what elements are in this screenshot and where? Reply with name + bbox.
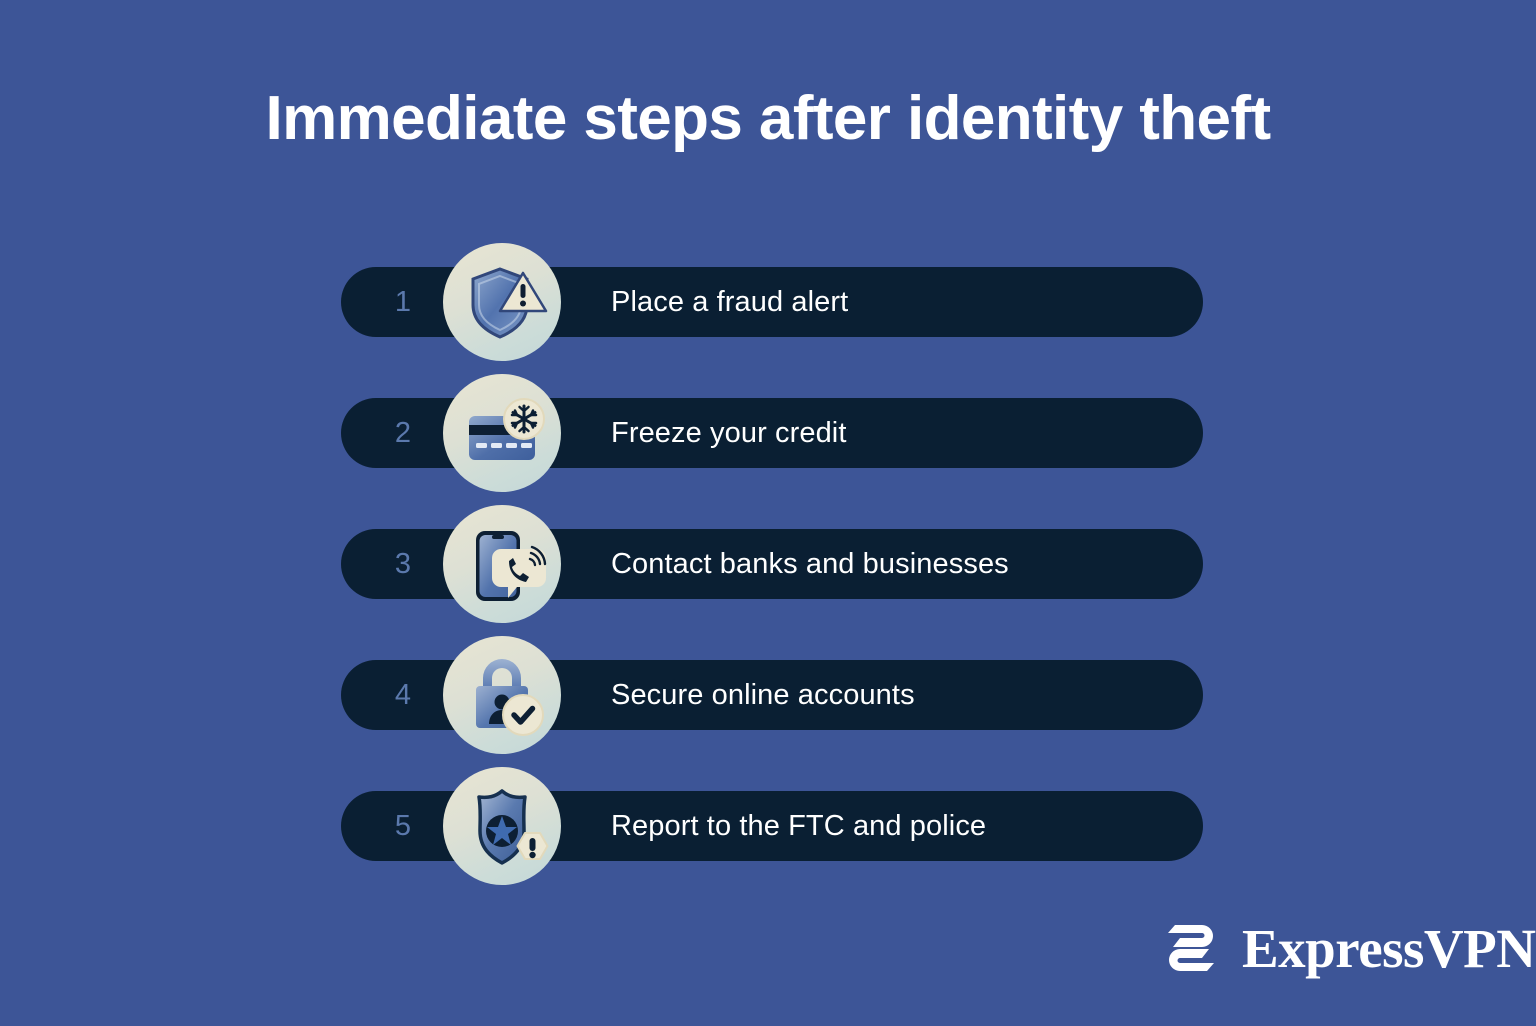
step-label: Place a fraud alert bbox=[611, 267, 848, 337]
step-row: 1 Place a fraud alert bbox=[341, 267, 1203, 337]
step-number: 3 bbox=[374, 529, 432, 599]
brand-name: ExpressVPN bbox=[1242, 921, 1535, 976]
step-number: 2 bbox=[374, 398, 432, 468]
credit-card-snowflake-icon bbox=[443, 374, 561, 492]
step-label: Report to the FTC and police bbox=[611, 791, 986, 861]
step-label: Secure online accounts bbox=[611, 660, 915, 730]
step-number: 4 bbox=[374, 660, 432, 730]
shield-warning-icon bbox=[443, 243, 561, 361]
steps-list: 1 Place a fraud alert 2 bbox=[341, 267, 1203, 922]
step-row: 3 bbox=[341, 529, 1203, 599]
step-label: Freeze your credit bbox=[611, 398, 847, 468]
step-number: 5 bbox=[374, 791, 432, 861]
police-badge-alert-icon bbox=[443, 767, 561, 885]
expressvpn-logo: ExpressVPN bbox=[1158, 908, 1488, 988]
expressvpn-e-mark-icon bbox=[1158, 915, 1224, 981]
step-row: 5 Report to the FTC and police bbox=[341, 791, 1203, 861]
step-row: 2 bbox=[341, 398, 1203, 468]
phone-call-bubble-icon bbox=[443, 505, 561, 623]
step-number: 1 bbox=[374, 267, 432, 337]
padlock-user-check-icon bbox=[443, 636, 561, 754]
page-title: Immediate steps after identity theft bbox=[0, 86, 1536, 151]
step-label: Contact banks and businesses bbox=[611, 529, 1009, 599]
step-row: 4 bbox=[341, 660, 1203, 730]
